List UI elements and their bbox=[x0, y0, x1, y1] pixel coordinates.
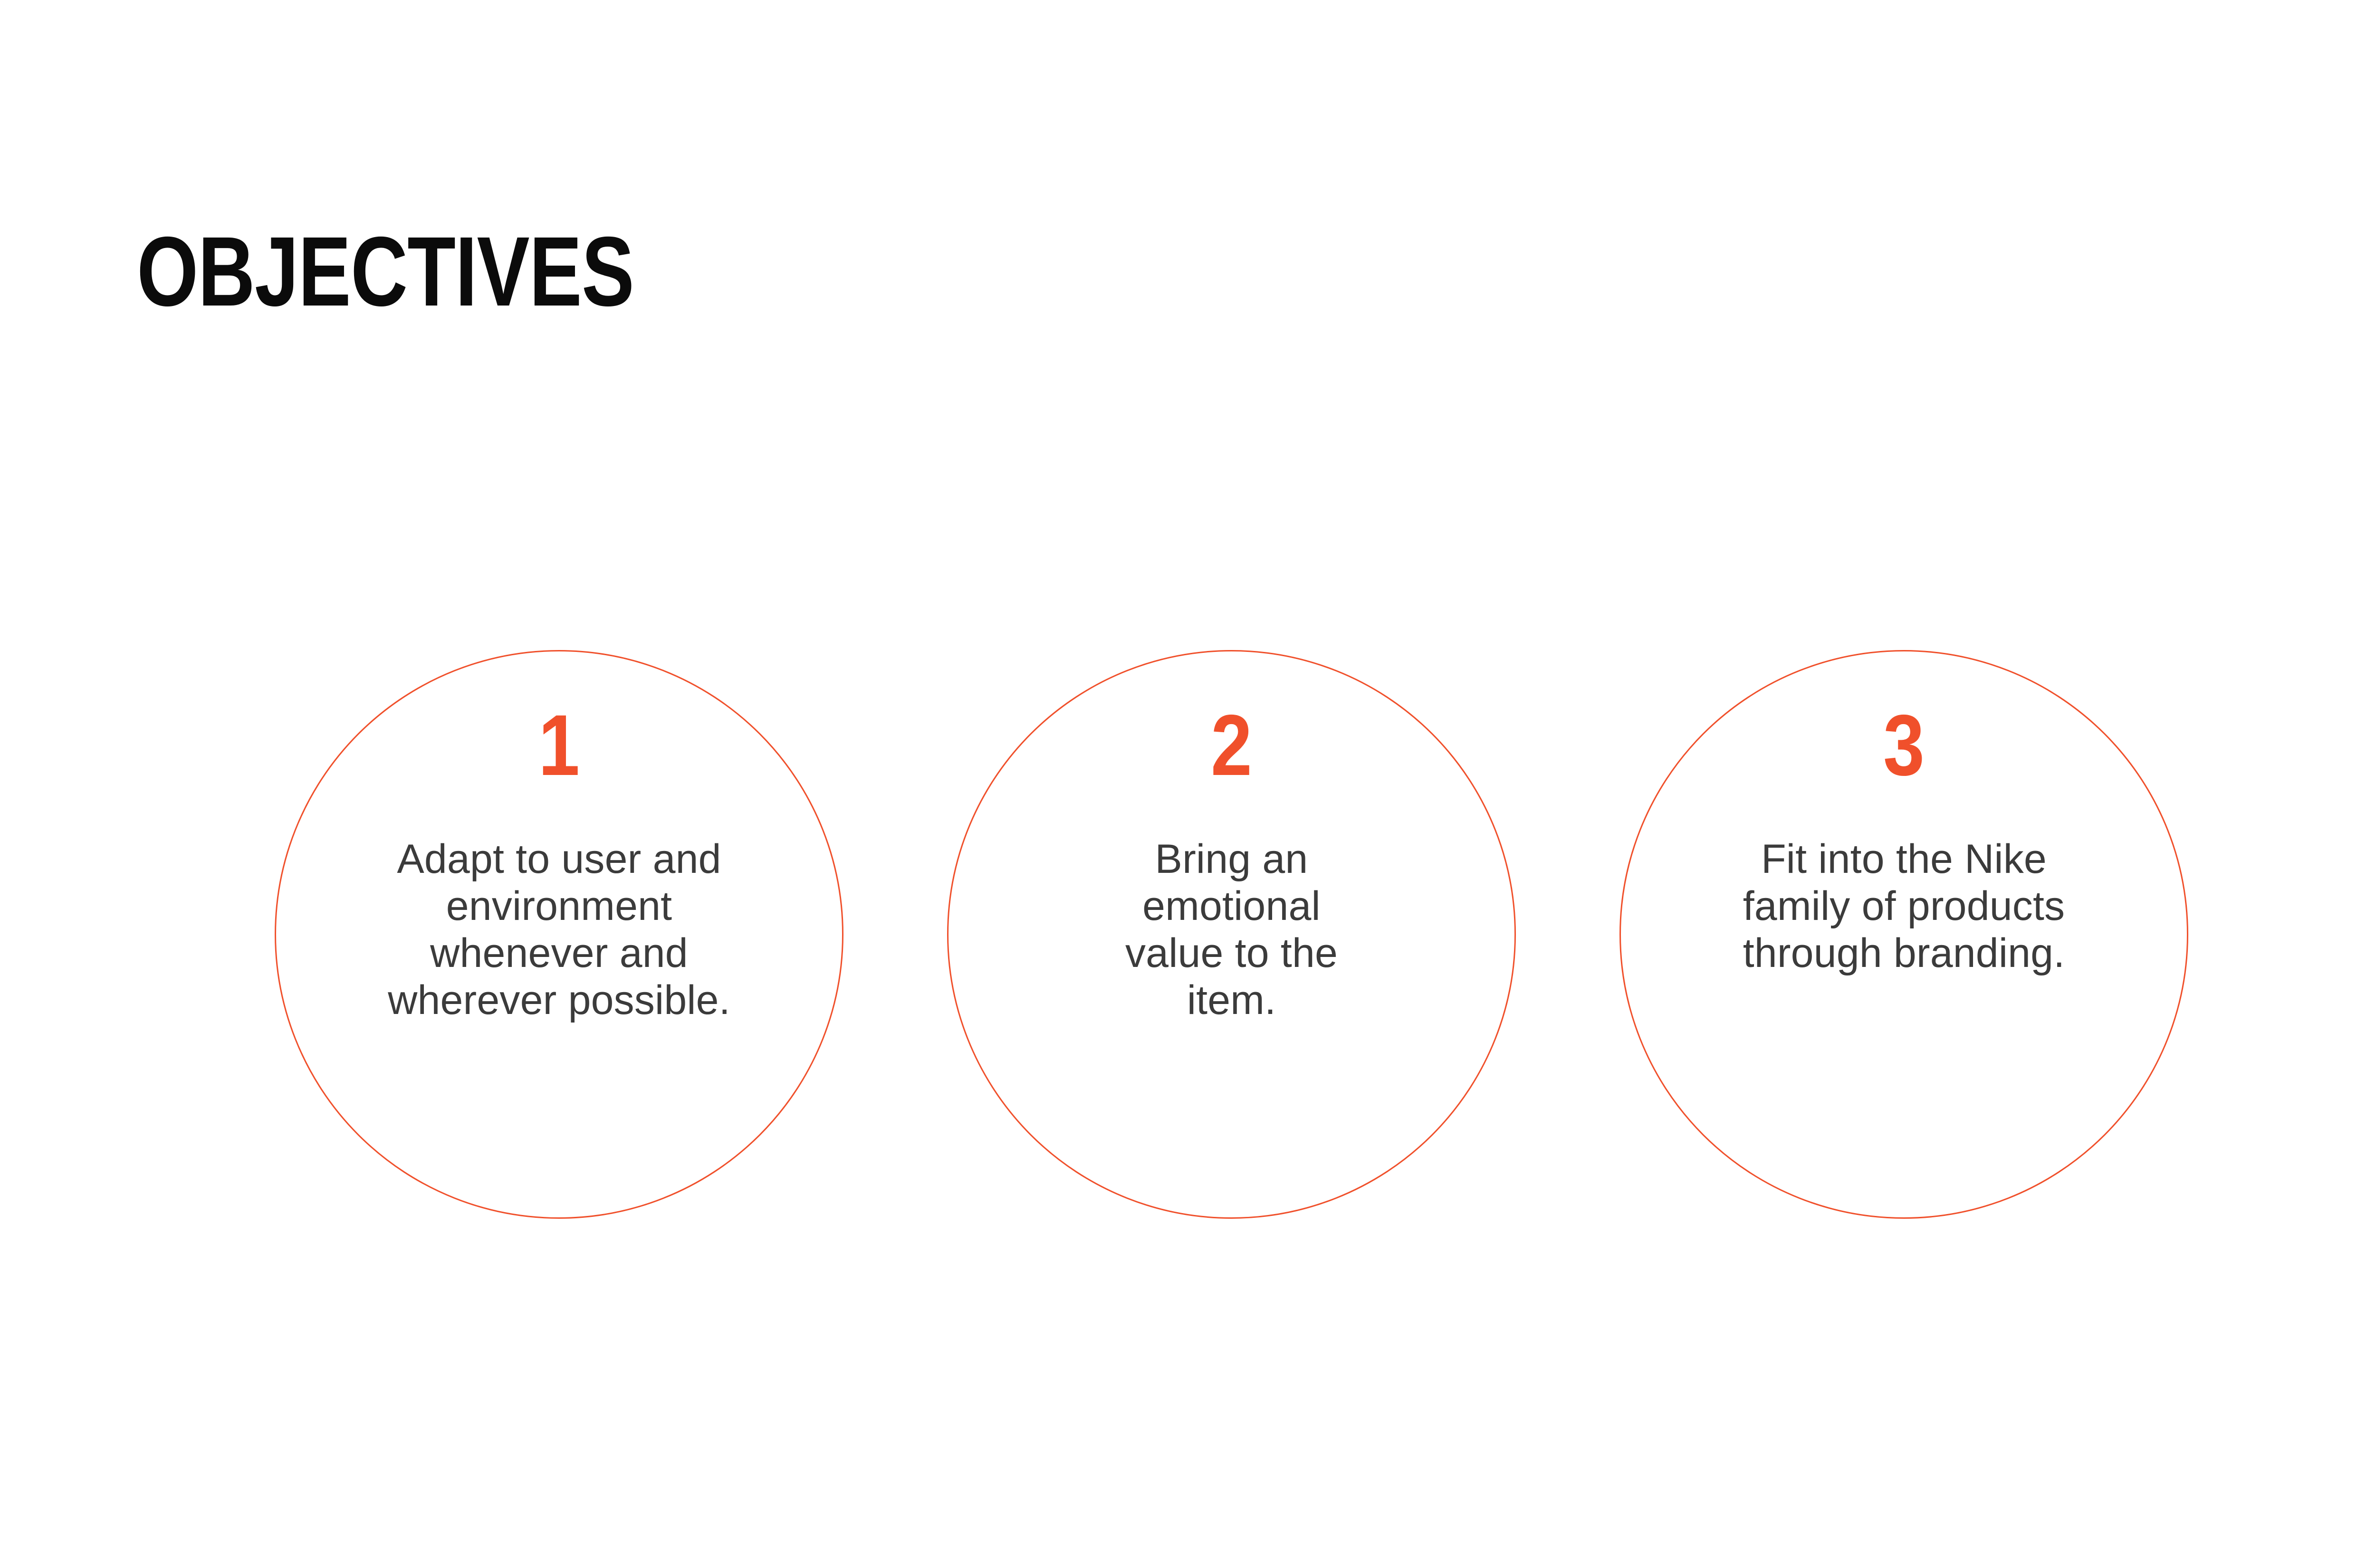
objective-number-3: 3 bbox=[1660, 702, 2147, 788]
objective-text-1: Adapt to user and environment whenever a… bbox=[379, 836, 740, 1024]
objective-circle-3: 3 Fit into the Nike family of products t… bbox=[1619, 650, 2188, 1219]
objective-text-2: Bring an emotional value to the item. bbox=[1089, 836, 1374, 1024]
objective-circle-1: 1 Adapt to user and environment whenever… bbox=[275, 650, 843, 1219]
objectives-slide: OBJECTIVES 1 Adapt to user and environme… bbox=[0, 0, 2376, 1568]
objectives-row: 1 Adapt to user and environment whenever… bbox=[0, 650, 2376, 1220]
objective-text-3: Fit into the Nike family of products thr… bbox=[1738, 836, 2070, 977]
objective-circle-2: 2 Bring an emotional value to the item. bbox=[947, 650, 1516, 1219]
objective-number-2: 2 bbox=[988, 702, 1475, 788]
page-title: OBJECTIVES bbox=[137, 222, 634, 321]
objective-number-1: 1 bbox=[316, 702, 802, 788]
